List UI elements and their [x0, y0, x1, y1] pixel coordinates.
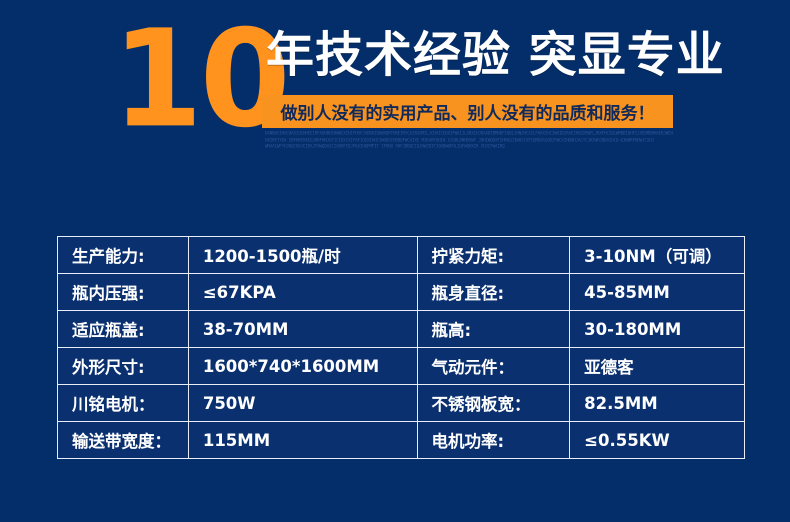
- spec-value: 38-70MM: [188, 311, 417, 348]
- table-row: 生产能力: 1200-1500瓶/时 拧紧力矩: 3-10NM（可调）: [58, 237, 745, 274]
- spec-value: 30-180MM: [570, 311, 745, 348]
- headline-text: 年技术经验 突显专业: [266, 30, 725, 82]
- spec-label: 电机功率:: [417, 422, 570, 459]
- spec-label: 外形尺寸:: [58, 348, 189, 385]
- spec-label: 瓶内压强:: [58, 274, 189, 311]
- spec-label: 生产能力:: [58, 237, 189, 274]
- spec-label: 瓶高:: [417, 311, 570, 348]
- spec-value: 45-85MM: [570, 274, 745, 311]
- banner-header: 10 年技术经验 突显专业 做别人没有的实用产品、别人没有的品质和服务！ DAN…: [0, 0, 790, 175]
- microtext-line: WRXAIWFYHJBQCHXJCIRAJFAWQDHJCIXBHFIDJFKA…: [265, 143, 673, 150]
- spec-label: 川铭电机：: [58, 385, 189, 422]
- subtitle-bar: 做别人没有的实用产品、别人没有的品质和服务！: [262, 95, 673, 128]
- table-row: 适应瓶盖: 38-70MM 瓶高: 30-180MM: [58, 311, 745, 348]
- promo-banner-page: 10 年技术经验 突显专业 做别人没有的实用产品、别人没有的品质和服务！ DAN…: [0, 0, 790, 522]
- spec-label: 适应瓶盖:: [58, 311, 189, 348]
- spec-value: 亚德客: [570, 348, 745, 385]
- spec-value: 1600*740*1600MM: [188, 348, 417, 385]
- spec-table-body: 生产能力: 1200-1500瓶/时 拧紧力矩: 3-10NM（可调） 瓶内压强…: [58, 237, 745, 459]
- table-row: 外形尺寸: 1600*740*1600MM 气动元件： 亚德客: [58, 348, 745, 385]
- table-row: 瓶内压强: ≤67KPA 瓶身直径: 45-85MM: [58, 274, 745, 311]
- decorative-microtext: DANBOXIHOCHAXIQIHHEEIRFAOHBHIHWNCXIHIFHO…: [265, 130, 673, 152]
- spec-label: 气动元件：: [417, 348, 570, 385]
- spec-label: 瓶身直径:: [417, 274, 570, 311]
- spec-value: ≤0.55KW: [570, 422, 745, 459]
- specification-table: 生产能力: 1200-1500瓶/时 拧紧力矩: 3-10NM（可调） 瓶内压强…: [57, 236, 745, 459]
- spec-label: 输送带宽度：: [58, 422, 189, 459]
- subtitle-text: 做别人没有的实用产品、别人没有的品质和服务！: [281, 99, 655, 124]
- table-row: 川铭电机： 750W 不锈钢板宽： 82.5MM: [58, 385, 745, 422]
- spec-value: 3-10NM（可调）: [570, 237, 745, 274]
- spec-value: 750W: [188, 385, 417, 422]
- table-row: 输送带宽度： 115MM 电机功率: ≤0.55KW: [58, 422, 745, 459]
- spec-value: ≤67KPA: [188, 274, 417, 311]
- spec-label: 不锈钢板宽：: [417, 385, 570, 422]
- spec-label: 拧紧力矩:: [417, 237, 570, 274]
- spec-value: 82.5MM: [570, 385, 745, 422]
- spec-value: 1200-1500瓶/时: [188, 237, 417, 274]
- spec-value: 115MM: [188, 422, 417, 459]
